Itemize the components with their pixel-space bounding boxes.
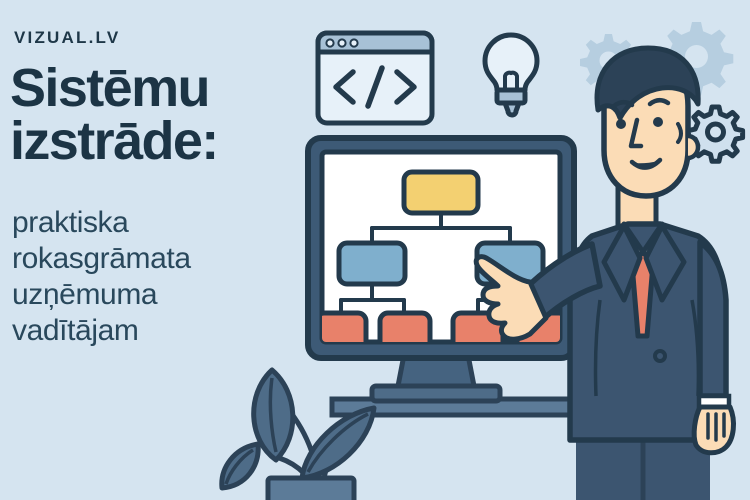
flowchart-node-mid bbox=[339, 243, 405, 284]
flowchart-node-root bbox=[404, 172, 478, 213]
plant-pot bbox=[268, 478, 354, 500]
illustration-canvas bbox=[0, 0, 750, 500]
right-hand bbox=[694, 407, 733, 453]
code-window[interactable] bbox=[318, 33, 432, 123]
